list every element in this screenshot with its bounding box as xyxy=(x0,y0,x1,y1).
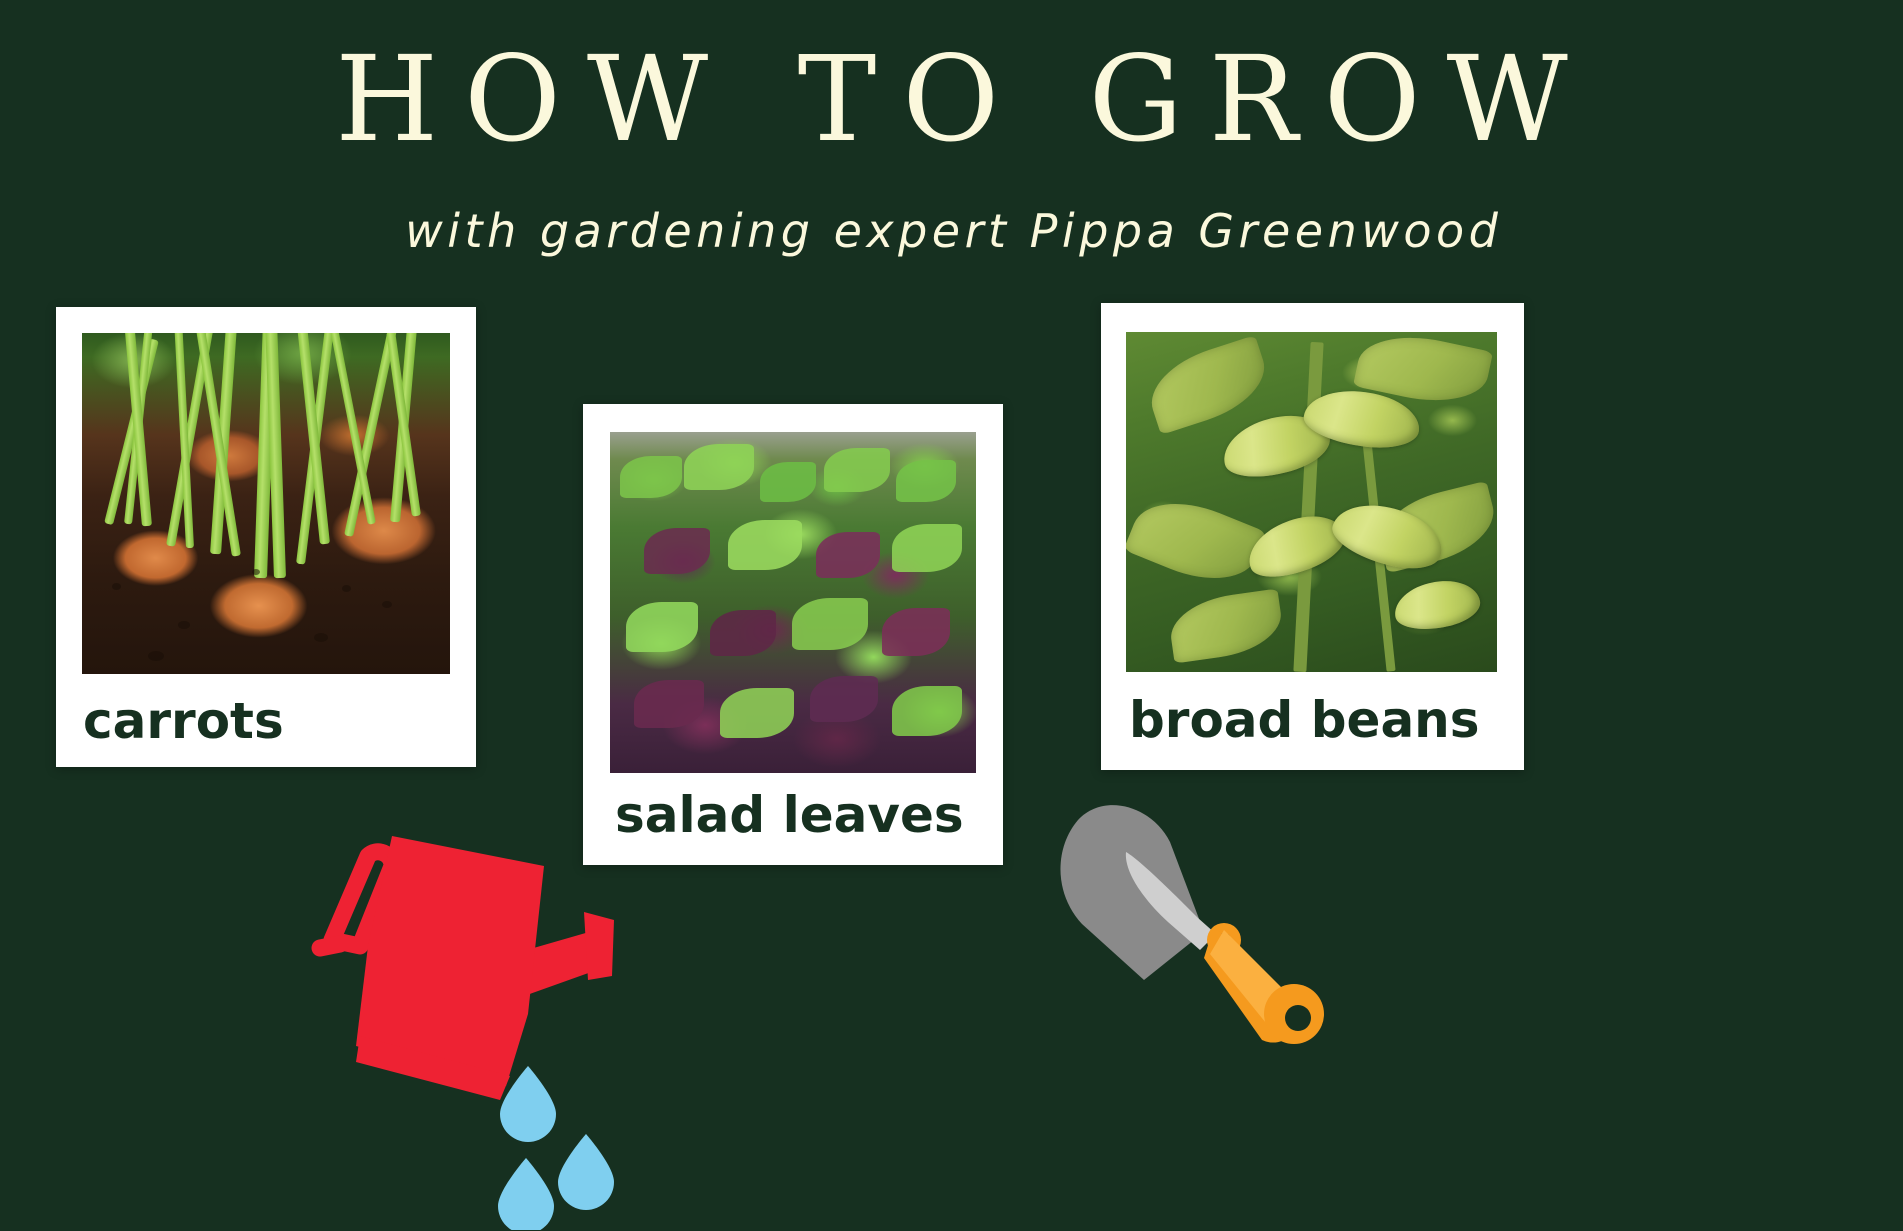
card-caption-broad-beans: broad beans xyxy=(1101,695,1524,745)
card-caption-salad-leaves: salad leaves xyxy=(583,790,1003,840)
salad-leaves-image xyxy=(610,432,976,773)
page-title: HOW TO GROW xyxy=(0,36,1903,163)
carrots-image xyxy=(82,333,450,674)
broad-beans-image xyxy=(1126,332,1497,672)
water-droplets-icon xyxy=(470,1040,650,1230)
card-caption-carrots: carrots xyxy=(56,696,476,746)
photo-salad-leaves xyxy=(610,432,976,773)
photo-card-broad-beans[interactable]: broad beans xyxy=(1101,303,1524,770)
photo-card-salad-leaves[interactable]: salad leaves xyxy=(583,404,1003,865)
photo-card-carrots[interactable]: carrots xyxy=(56,307,476,767)
photo-broad-beans xyxy=(1126,332,1497,672)
garden-trowel-icon xyxy=(1048,790,1348,1050)
poster-canvas: HOW TO GROW with gardening expert Pippa … xyxy=(0,0,1903,1231)
carrot-stems-group xyxy=(82,333,450,674)
photo-carrots xyxy=(82,333,450,674)
page-subtitle: with gardening expert Pippa Greenwood xyxy=(0,204,1903,258)
